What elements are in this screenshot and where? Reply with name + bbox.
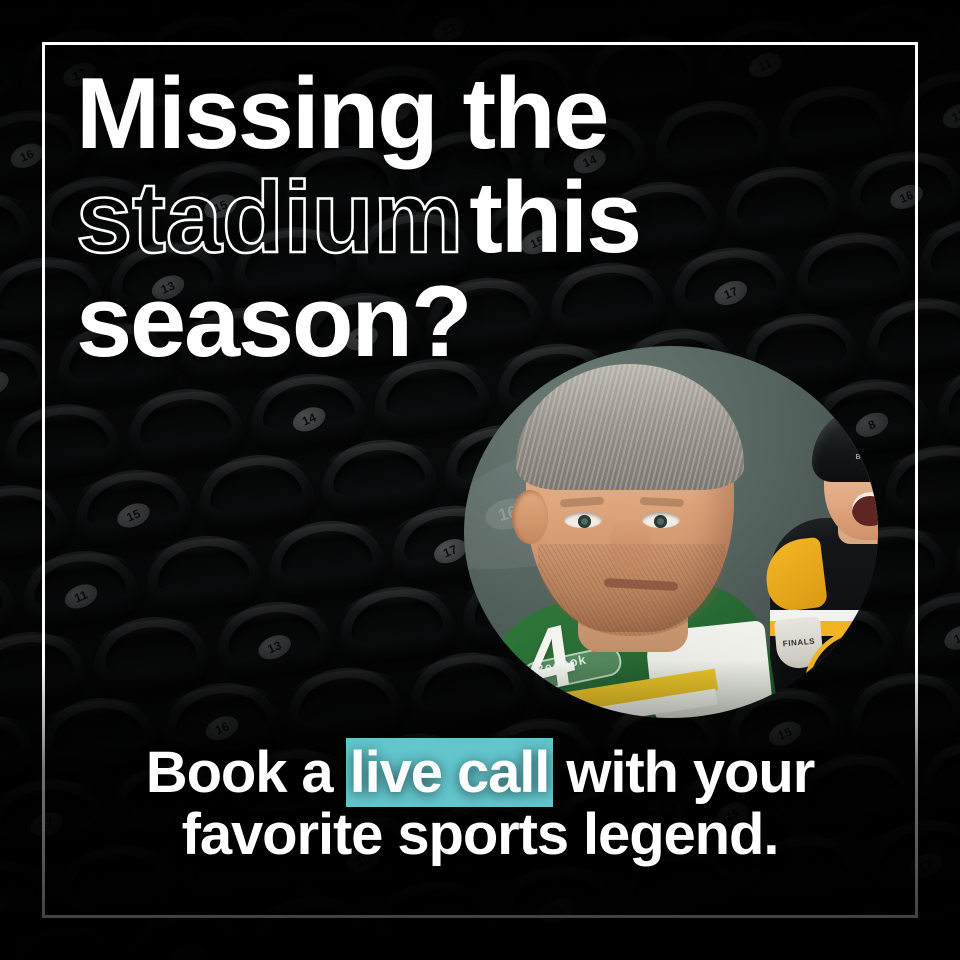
- poster: 1716151413131516811171615141313151681117…: [0, 0, 960, 960]
- football-ear: [512, 490, 548, 544]
- football-legend-figure: 4 Reebok: [482, 358, 768, 718]
- headline-outlined-word: stadium: [76, 162, 469, 274]
- headline-line-2: stadiumthis: [76, 166, 796, 270]
- football-hair: [516, 364, 744, 490]
- bruins-logo-letter: B: [816, 640, 878, 718]
- hockey-helmet: 13 BAUER: [812, 406, 878, 482]
- cta-line-1: Book a live call with your: [70, 742, 890, 804]
- football-nose: [610, 520, 650, 574]
- football-pupil-right: [654, 515, 667, 528]
- cta-highlight: live call: [348, 740, 552, 805]
- cta-text: Book a live call with your favorite spor…: [70, 742, 890, 866]
- hockey-player-figure: FINALS B 13 BAUER: [764, 400, 878, 718]
- photo-montage: 16 FINALS B: [464, 346, 878, 718]
- hockey-helmet-number: 13: [859, 424, 878, 443]
- cta-line-1-before: Book a: [146, 740, 333, 805]
- headline: Missing the stadiumthis season?: [76, 62, 796, 374]
- hockey-helmet-brand: BAUER: [856, 454, 878, 461]
- cta-line-1-after: with your: [566, 740, 814, 805]
- football-pupil-left: [578, 515, 591, 528]
- bruins-logo-icon: B: [816, 640, 878, 718]
- hockey-mouth: [852, 492, 878, 526]
- circular-photo-frame: 16 FINALS B: [464, 346, 878, 718]
- headline-line-2-solid: this: [469, 162, 640, 274]
- headline-line-1: Missing the: [76, 62, 796, 166]
- cta-line-2: favorite sports legend.: [70, 804, 890, 866]
